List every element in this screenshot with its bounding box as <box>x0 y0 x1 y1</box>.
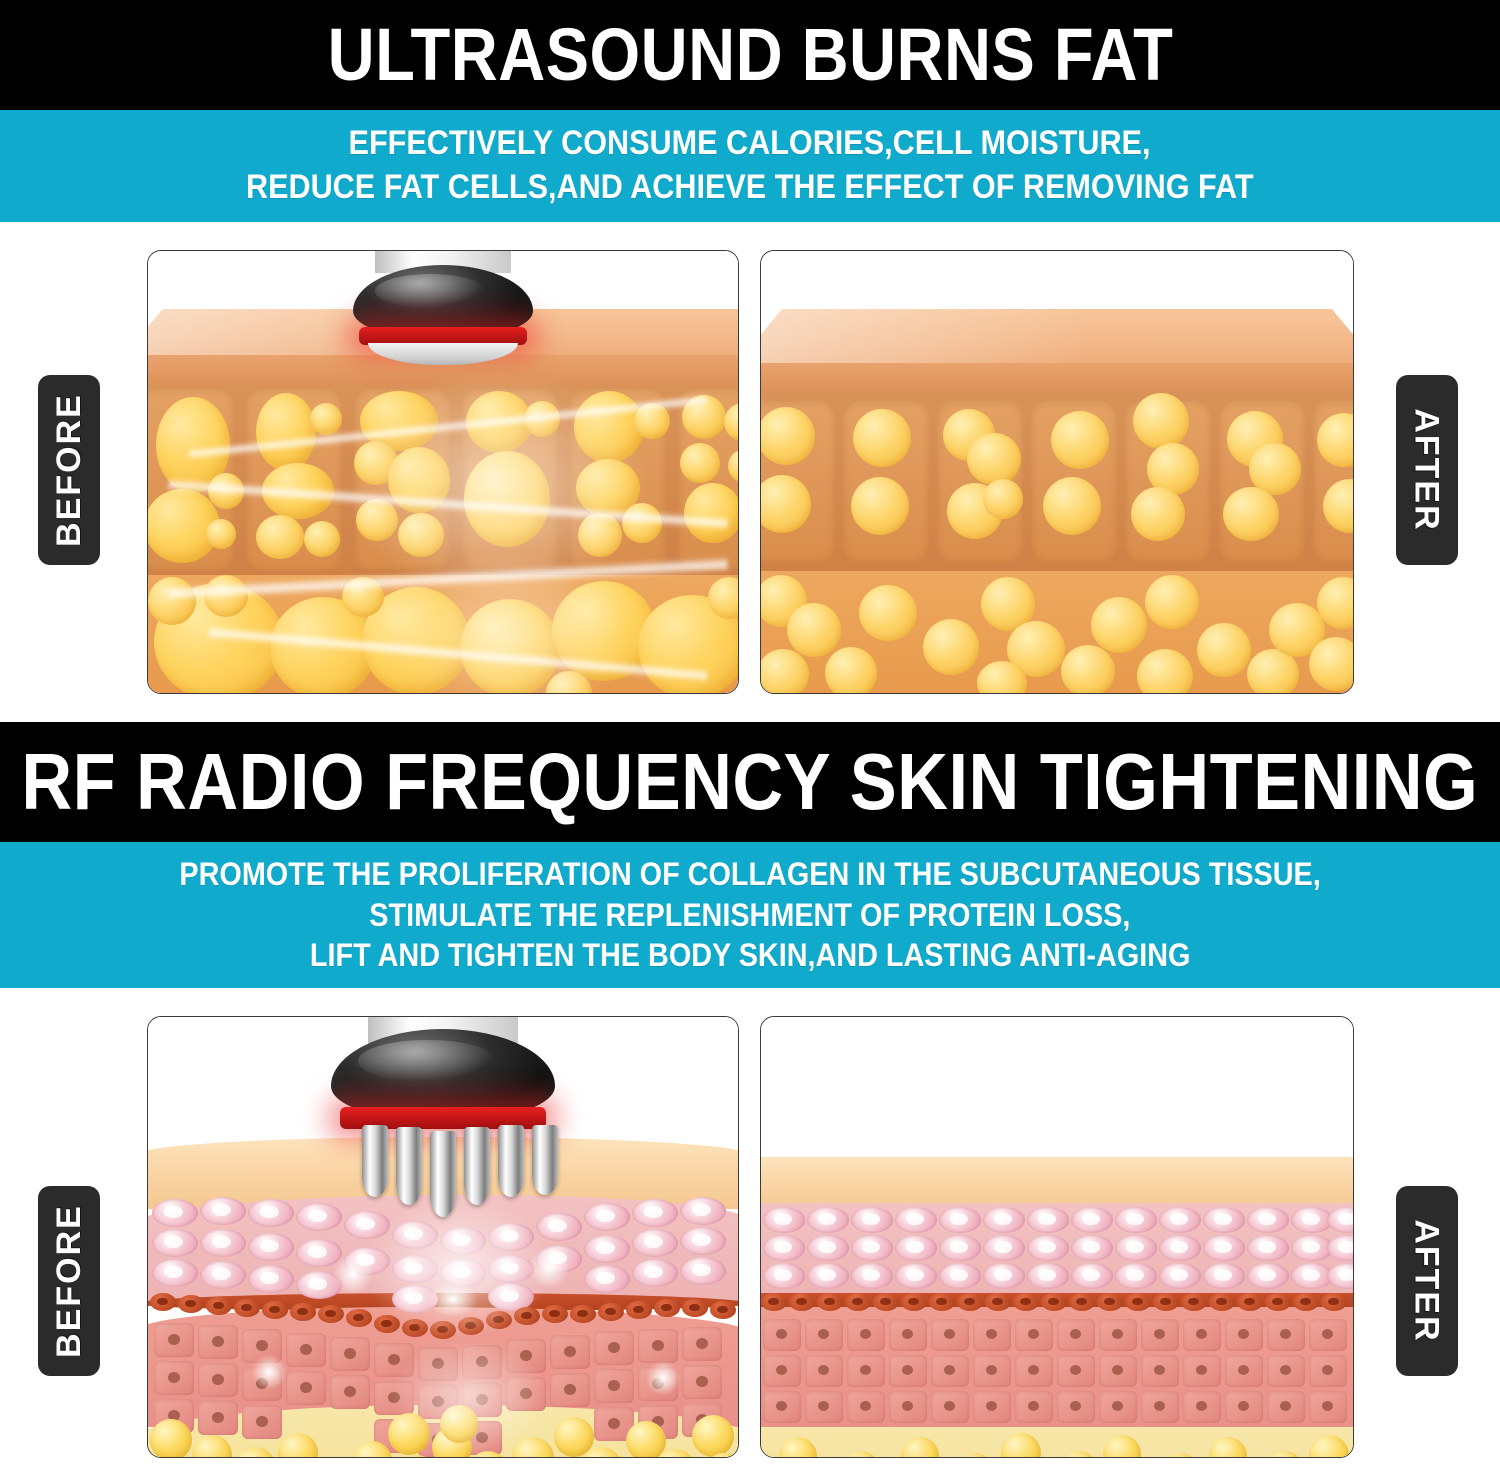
fat-cell <box>466 391 532 453</box>
fat-cell <box>684 483 739 543</box>
fat-cell <box>1061 645 1115 694</box>
fat-cell <box>388 447 450 513</box>
skin-cross-section-before <box>148 1017 738 1457</box>
section-1-after-badge: AFTER <box>1396 375 1458 565</box>
fat-cell <box>1043 477 1101 535</box>
rf-electrode-pin <box>498 1125 524 1197</box>
probe-ultrasound-plate <box>368 343 518 365</box>
fat-cell <box>256 393 316 471</box>
fat-cell <box>853 409 911 467</box>
fat-cell <box>680 443 720 483</box>
fat-cell <box>460 599 560 694</box>
fat-cell <box>524 401 560 437</box>
section-2-before-panel <box>147 1016 739 1458</box>
subcutaneous-fat-layer <box>761 1427 1353 1457</box>
fat-cell <box>622 503 662 543</box>
fat-cell <box>859 585 917 641</box>
section-1-title-band: ULTRASOUND BURNS FAT <box>0 0 1500 110</box>
fat-cell <box>310 403 342 435</box>
fat-cell <box>398 513 444 557</box>
fat-cross-section-after <box>761 251 1353 693</box>
fat-cross-section-before <box>148 251 738 693</box>
fat-cell <box>787 603 841 657</box>
fat-cell <box>208 473 244 509</box>
fat-cell <box>578 513 622 557</box>
fat-cell <box>634 403 670 439</box>
section-2-subtitle-line-3: LIFT AND TIGHTEN THE BODY SKIN,AND LASTI… <box>310 935 1191 976</box>
section-1-subtitle-line-2: REDUCE FAT CELLS,AND ACHIEVE THE EFFECT … <box>246 166 1254 210</box>
fat-cell <box>148 577 196 625</box>
after-label: AFTER <box>1410 1219 1444 1342</box>
section-1-before-badge: BEFORE <box>38 375 100 565</box>
rf-electrode-pin <box>362 1125 388 1197</box>
skin-cross-section-after <box>761 1017 1353 1457</box>
fat-cell <box>1145 575 1199 629</box>
rf-electrode-pin <box>430 1131 456 1217</box>
section-2-title-band: RF RADIO FREQUENCY SKIN TIGHTENING <box>0 722 1500 842</box>
fat-cell <box>1197 623 1251 677</box>
section-2-subtitle-line-2: STIMULATE THE REPLENISHMENT OF PROTEIN L… <box>369 895 1130 936</box>
section-2-compare-row: BEFORE <box>0 1016 1500 1456</box>
skin-slab-face <box>760 363 1354 391</box>
section-2-subtitle-band: PROMOTE THE PROLIFERATION OF COLLAGEN IN… <box>0 842 1500 988</box>
section-1-compare-row: BEFORE <box>0 250 1500 692</box>
fat-cell <box>1051 411 1109 469</box>
section-1-before-panel <box>147 250 739 694</box>
after-label: AFTER <box>1410 408 1444 531</box>
section-1-after-panel <box>760 250 1354 694</box>
fat-cell <box>256 515 304 559</box>
section-1-title: ULTRASOUND BURNS FAT <box>327 18 1173 92</box>
fat-cell <box>1133 393 1189 449</box>
before-label: BEFORE <box>52 1204 86 1358</box>
section-2-subtitle-line-1: PROMOTE THE PROLIFERATION OF COLLAGEN IN… <box>179 854 1320 895</box>
section-1-subtitle-band: EFFECTIVELY CONSUME CALORIES,CELL MOISTU… <box>0 110 1500 222</box>
section-2-before-badge: BEFORE <box>38 1186 100 1376</box>
rf-electrode-pin <box>396 1127 422 1205</box>
fat-cell <box>760 649 809 694</box>
fat-cell <box>923 619 979 675</box>
fat-cell <box>206 519 236 549</box>
skin-slab-top <box>760 309 1354 363</box>
fat-cell <box>356 499 398 541</box>
fat-cell <box>851 477 909 535</box>
section-2-after-badge: AFTER <box>1396 1186 1458 1376</box>
section-2-title: RF RADIO FREQUENCY SKIN TIGHTENING <box>22 742 1479 822</box>
rf-electrode-pin <box>464 1127 490 1205</box>
rf-electrode-probe <box>148 1017 738 1207</box>
before-label: BEFORE <box>52 393 86 547</box>
fat-cell <box>1137 649 1193 694</box>
fat-cell <box>574 391 644 463</box>
fat-cell <box>1223 487 1279 541</box>
fat-cell <box>342 577 384 617</box>
fat-cell <box>1091 597 1147 653</box>
fat-cell <box>304 521 340 557</box>
fat-cell <box>1131 487 1185 541</box>
section-2-after-panel <box>760 1016 1354 1458</box>
fat-cell <box>1309 637 1354 691</box>
ultrasound-probe <box>148 251 738 391</box>
rf-electrode-pin <box>532 1125 558 1195</box>
fat-cell <box>262 463 334 519</box>
infographic-page: ULTRASOUND BURNS FAT EFFECTIVELY CONSUME… <box>0 0 1500 1466</box>
fat-cell <box>983 479 1023 519</box>
fat-cell <box>464 451 550 547</box>
section-1-subtitle-line-1: EFFECTIVELY CONSUME CALORIES,CELL MOISTU… <box>349 122 1151 166</box>
fat-cell <box>825 647 877 694</box>
fat-cell <box>204 575 248 617</box>
fat-cell <box>682 395 726 439</box>
fat-cell <box>967 433 1021 485</box>
